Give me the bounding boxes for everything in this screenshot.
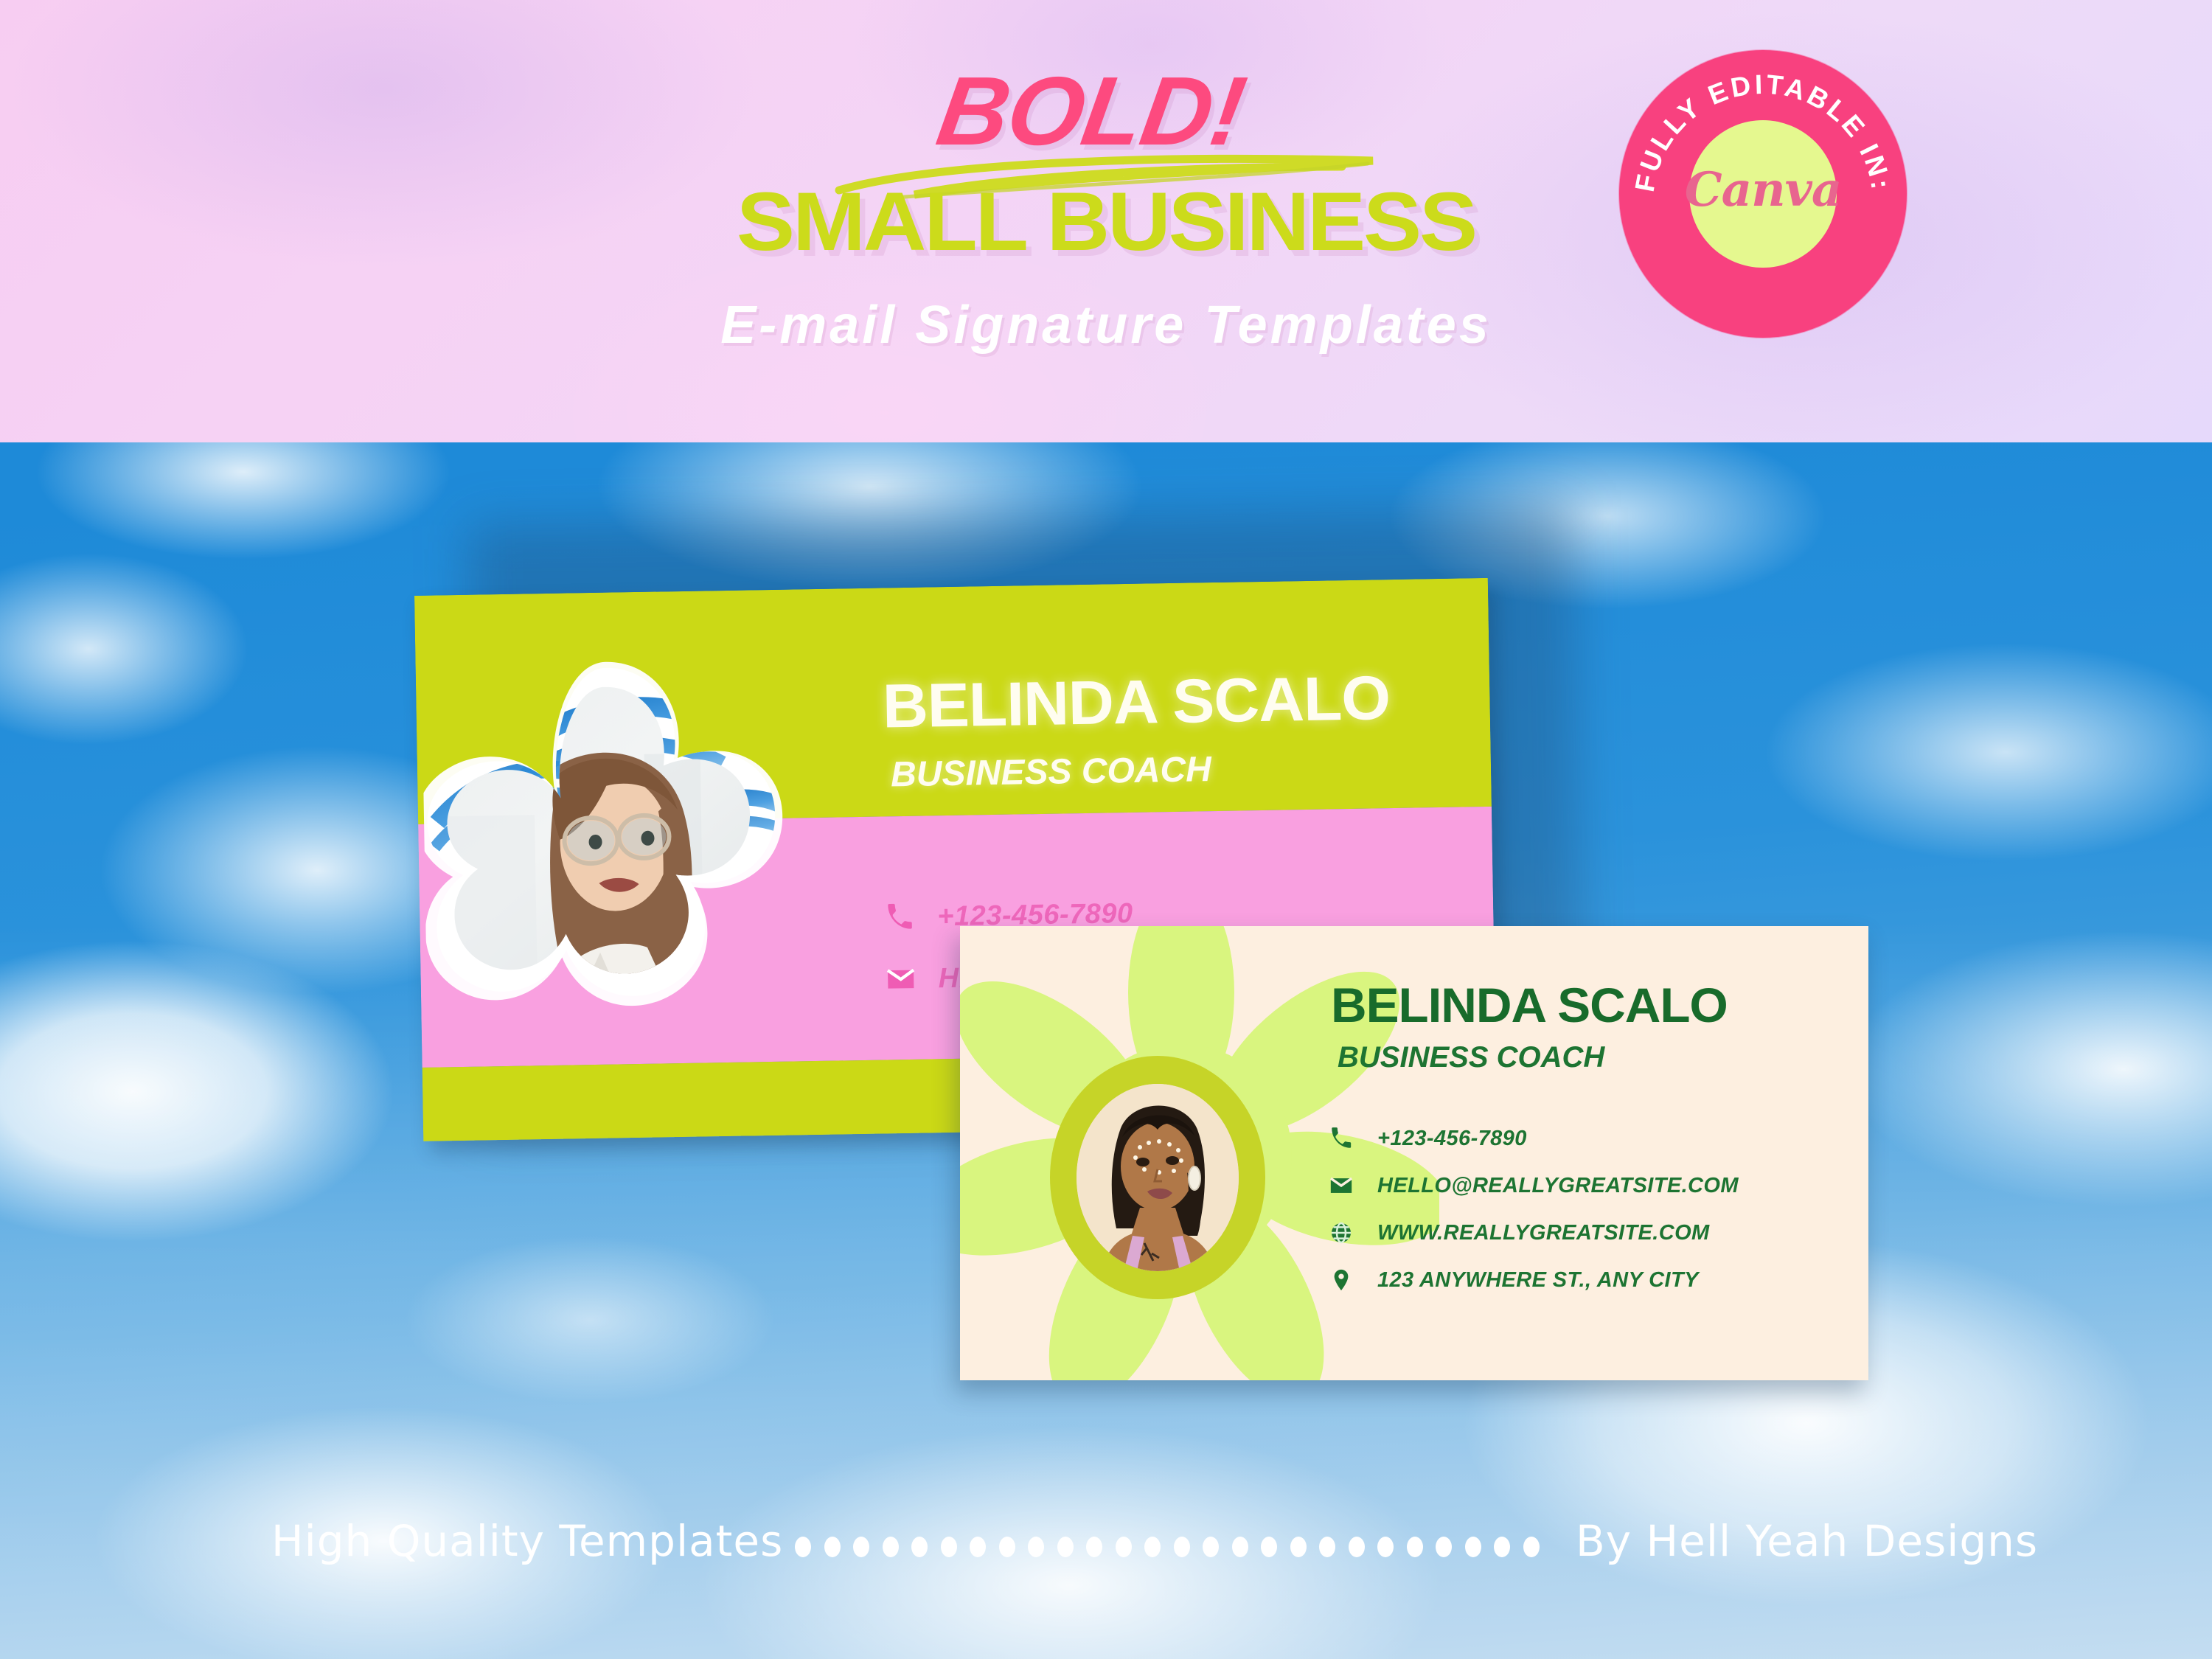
card-two-name: BELINDA SCALO <box>1331 981 1857 1029</box>
footer-dot <box>1261 1537 1277 1557</box>
footer-dot <box>911 1537 928 1557</box>
footer-dot <box>970 1537 986 1557</box>
footer-dot <box>824 1537 841 1557</box>
email-signature-card-two[interactable]: BELINDA SCALO BUSINESS COACH +123-456-78… <box>960 926 1868 1380</box>
footer-dot <box>1057 1537 1074 1557</box>
footer-left-label: High Quality Templates <box>271 1516 783 1566</box>
card-two-website-value: WWW.REALLYGREATSITE.COM <box>1377 1221 1710 1245</box>
footer-dot <box>1319 1537 1335 1557</box>
footer-dot <box>1086 1537 1102 1557</box>
footer-dot <box>1290 1537 1307 1557</box>
footer-dot <box>999 1537 1015 1557</box>
footer-right-label: By Hell Yeah Designs <box>1576 1516 2038 1566</box>
card-two-contact-list: +123-456-7890 HELLO@REALLYGREATSITE.COM <box>1329 1115 1860 1304</box>
card-one-name: BELINDA SCALO <box>882 666 1454 737</box>
footer-dot <box>1436 1537 1452 1557</box>
header-subtitle: E-mail Signature Templates <box>516 299 1696 352</box>
location-pin-icon <box>1329 1267 1367 1293</box>
footer-dot <box>1349 1537 1365 1557</box>
footer-dot <box>1465 1537 1481 1557</box>
card-two-address-value: 123 ANYWHERE ST., ANY CITY <box>1377 1268 1699 1293</box>
header-content: BOLD! SMALL BUSINESS E-mail Signature Te… <box>0 0 2212 442</box>
footer-dot <box>1144 1537 1161 1557</box>
footer-dot <box>1407 1537 1423 1557</box>
globe-icon <box>1329 1220 1367 1245</box>
card-two-email-value: HELLO@REALLYGREATSITE.COM <box>1377 1174 1739 1198</box>
phone-icon <box>884 901 931 933</box>
card-two-phone-value: +123-456-7890 <box>1377 1127 1527 1151</box>
footer-dot <box>1377 1537 1394 1557</box>
canva-badge[interactable]: FULLY EDITABLE IN: Canva <box>1619 50 1907 338</box>
card-two-contact-email[interactable]: HELLO@REALLYGREATSITE.COM <box>1329 1162 1860 1209</box>
main-headline: SMALL BUSINESS <box>559 181 1653 263</box>
header-band: BOLD! SMALL BUSINESS E-mail Signature Te… <box>0 0 2212 442</box>
bold-headline: BOLD! <box>892 63 1291 160</box>
envelope-icon <box>885 963 931 995</box>
footer-dot-divider <box>795 1532 1540 1562</box>
card-two-avatar <box>1077 1084 1239 1271</box>
avatar-portrait-icon <box>1077 1084 1239 1271</box>
footer-dot <box>1116 1537 1132 1557</box>
footer-dot <box>1203 1537 1219 1557</box>
footer-dot <box>795 1537 811 1557</box>
footer-dot <box>941 1537 957 1557</box>
footer-dot <box>1028 1537 1044 1557</box>
poster-canvas: BOLD! SMALL BUSINESS E-mail Signature Te… <box>0 0 2212 1659</box>
footer-dot <box>1174 1537 1190 1557</box>
phone-icon <box>1329 1126 1367 1151</box>
footer-dot <box>1523 1537 1540 1557</box>
footer-dot <box>883 1537 899 1557</box>
footer-dot <box>1232 1537 1248 1557</box>
envelope-icon <box>1329 1173 1367 1198</box>
card-two-photo-ring <box>1050 1056 1265 1299</box>
card-two-role: BUSINESS COACH <box>1338 1043 1854 1072</box>
canva-wordmark: Canva <box>1619 162 1907 218</box>
footer-dot <box>853 1537 869 1557</box>
card-two-contact-address[interactable]: 123 ANYWHERE ST., ANY CITY <box>1329 1256 1860 1304</box>
card-two-contact-phone[interactable]: +123-456-7890 <box>1329 1115 1860 1162</box>
card-one-flower-photo-frame <box>421 627 798 1141</box>
card-two-contact-website[interactable]: WWW.REALLYGREATSITE.COM <box>1329 1209 1860 1256</box>
footer-dot <box>1494 1537 1510 1557</box>
